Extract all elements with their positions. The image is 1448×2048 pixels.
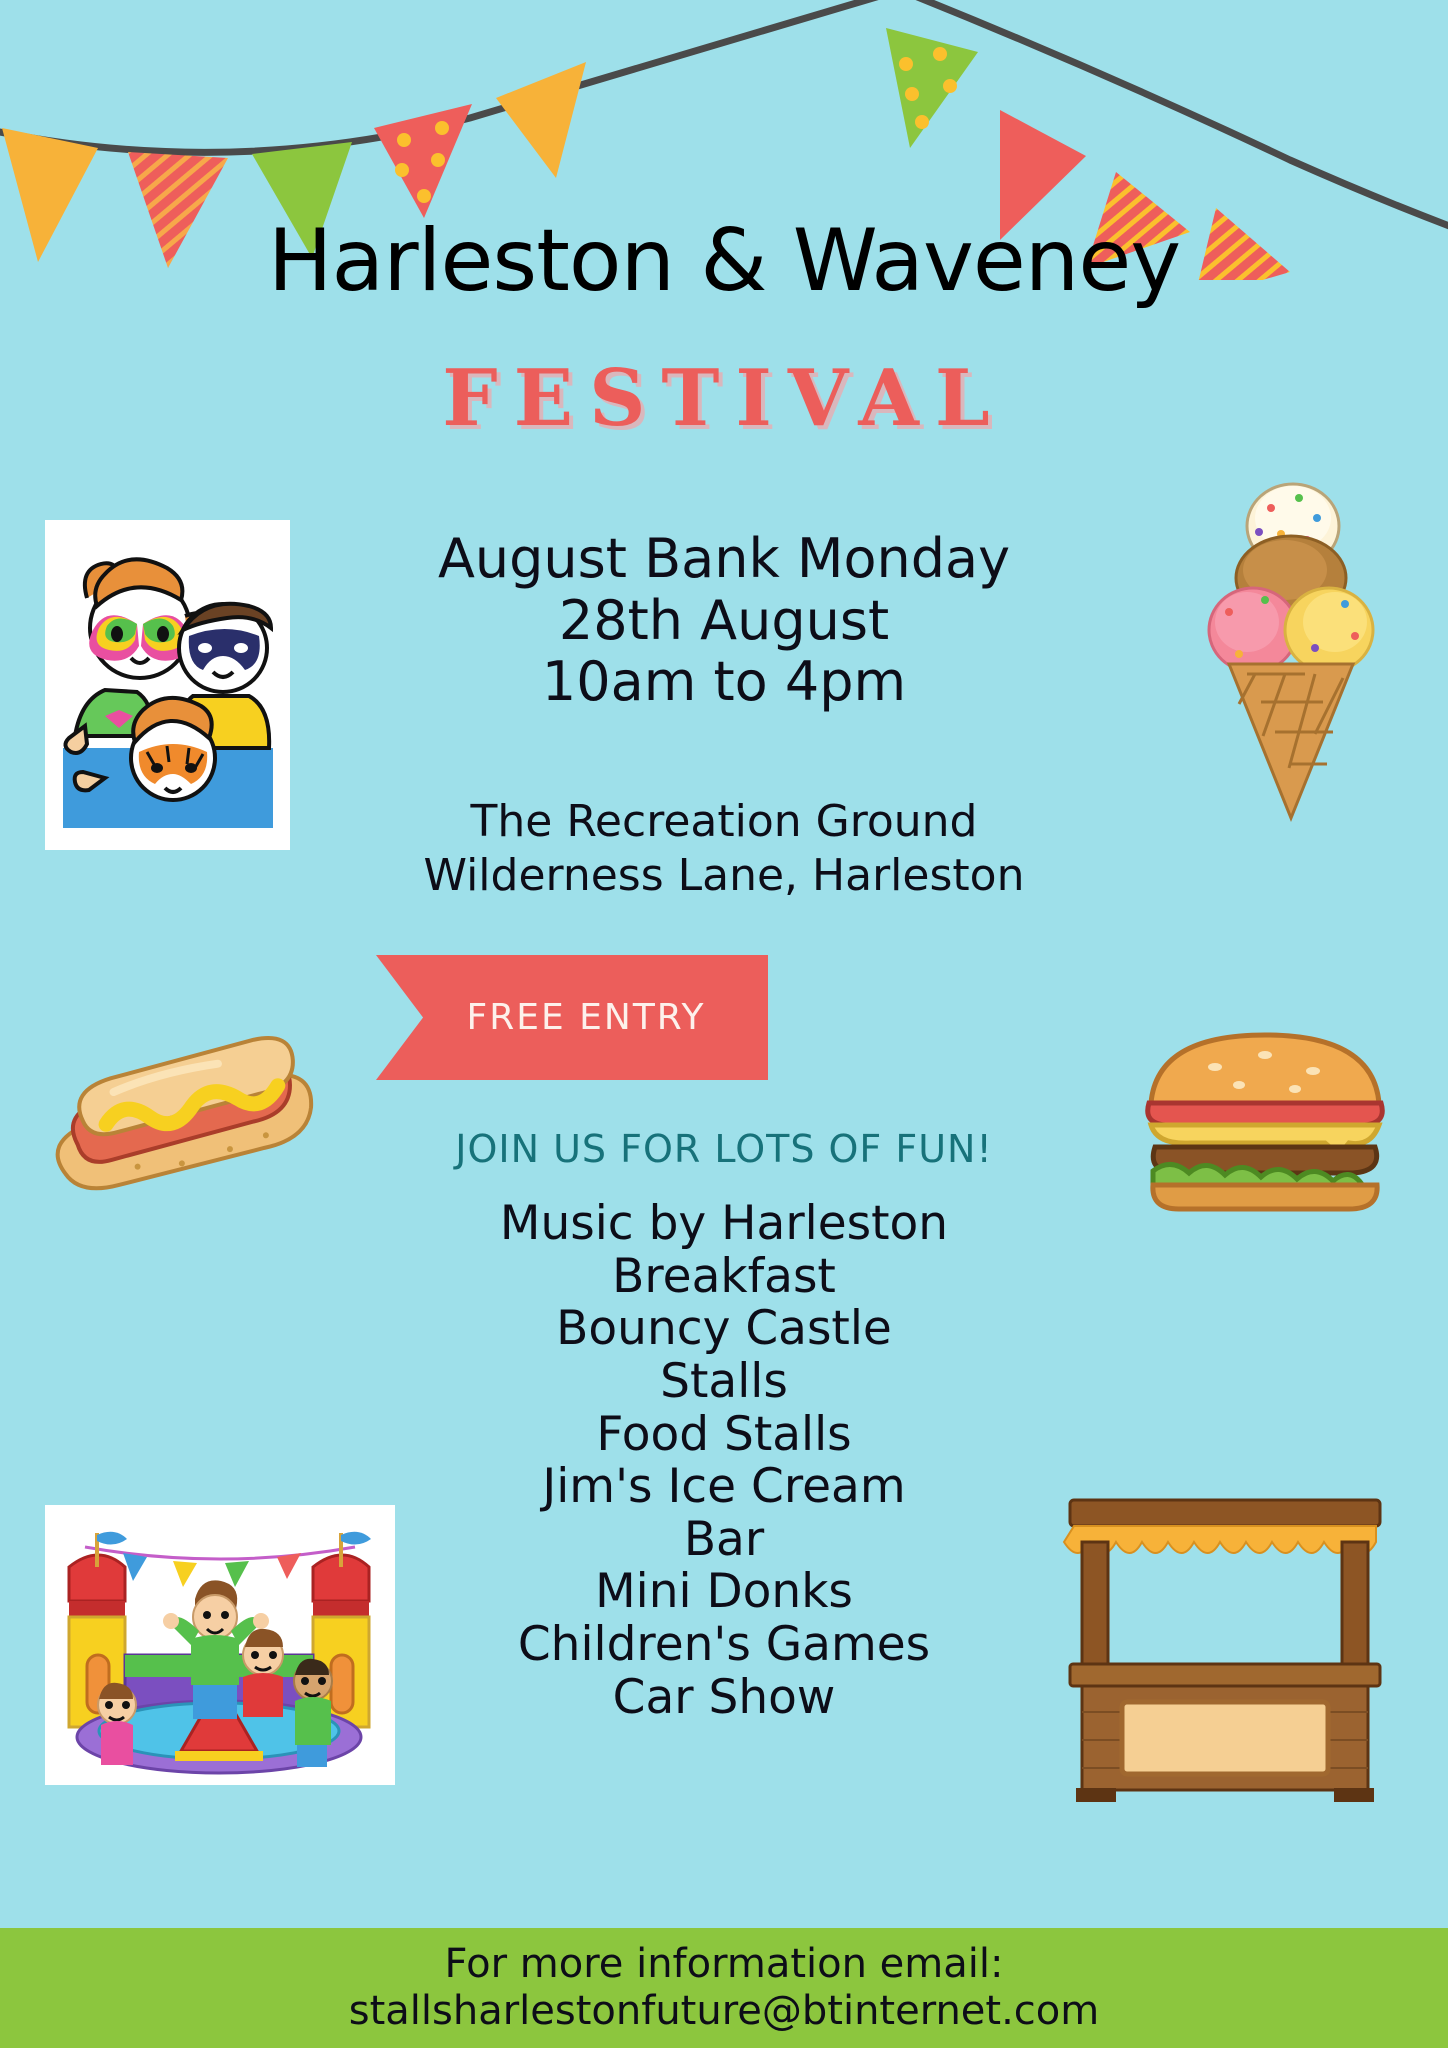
venue-name: The Recreation Ground — [274, 795, 1174, 849]
banner-label: FREE ENTRY — [376, 955, 768, 1080]
list-item: Bar — [274, 1514, 1174, 1567]
festival-subtitle: FESTIVAL — [0, 360, 1448, 438]
hamburger-illustration — [1135, 1025, 1395, 1215]
footer-info-text: For more information email: — [445, 1941, 1004, 1988]
ice-cream-illustration — [1195, 478, 1385, 828]
event-date-line2: 28th August — [324, 590, 1124, 652]
event-venue-block: The Recreation Ground Wilderness Lane, H… — [274, 795, 1174, 902]
free-entry-banner: FREE ENTRY — [376, 955, 768, 1080]
festival-poster: Harleston & Waveney FESTIVAL August Bank… — [0, 0, 1448, 2048]
flag-red-dots — [374, 104, 472, 218]
flag-green-dots — [886, 28, 978, 148]
list-item: Jim's Ice Cream — [274, 1461, 1174, 1514]
footer-contact: For more information email: stallsharles… — [0, 1928, 1448, 2048]
list-item: Music by Harleston — [274, 1198, 1174, 1251]
venue-address: Wilderness Lane, Harleston — [274, 849, 1174, 903]
list-item: Food Stalls — [274, 1409, 1174, 1462]
list-item: Breakfast — [274, 1251, 1174, 1304]
face-painting-illustration — [45, 520, 290, 850]
event-time: 10am to 4pm — [324, 651, 1124, 713]
join-us-heading: JOIN US FOR LOTS OF FUN! — [274, 1127, 1174, 1171]
list-item: Children's Games — [274, 1619, 1174, 1672]
page-title: Harleston & Waveney — [0, 218, 1448, 304]
list-item: Car Show — [274, 1672, 1174, 1725]
flag-orange-top — [496, 62, 586, 178]
list-item: Bouncy Castle — [274, 1303, 1174, 1356]
list-item: Stalls — [274, 1356, 1174, 1409]
list-item: Mini Donks — [274, 1566, 1174, 1619]
event-date-line1: August Bank Monday — [324, 528, 1124, 590]
footer-email[interactable]: stallsharlestonfuture@btinternet.com — [349, 1988, 1100, 2035]
activities-list: Music by Harleston Breakfast Bouncy Cast… — [274, 1198, 1174, 1724]
event-date-block: August Bank Monday 28th August 10am to 4… — [324, 528, 1124, 713]
